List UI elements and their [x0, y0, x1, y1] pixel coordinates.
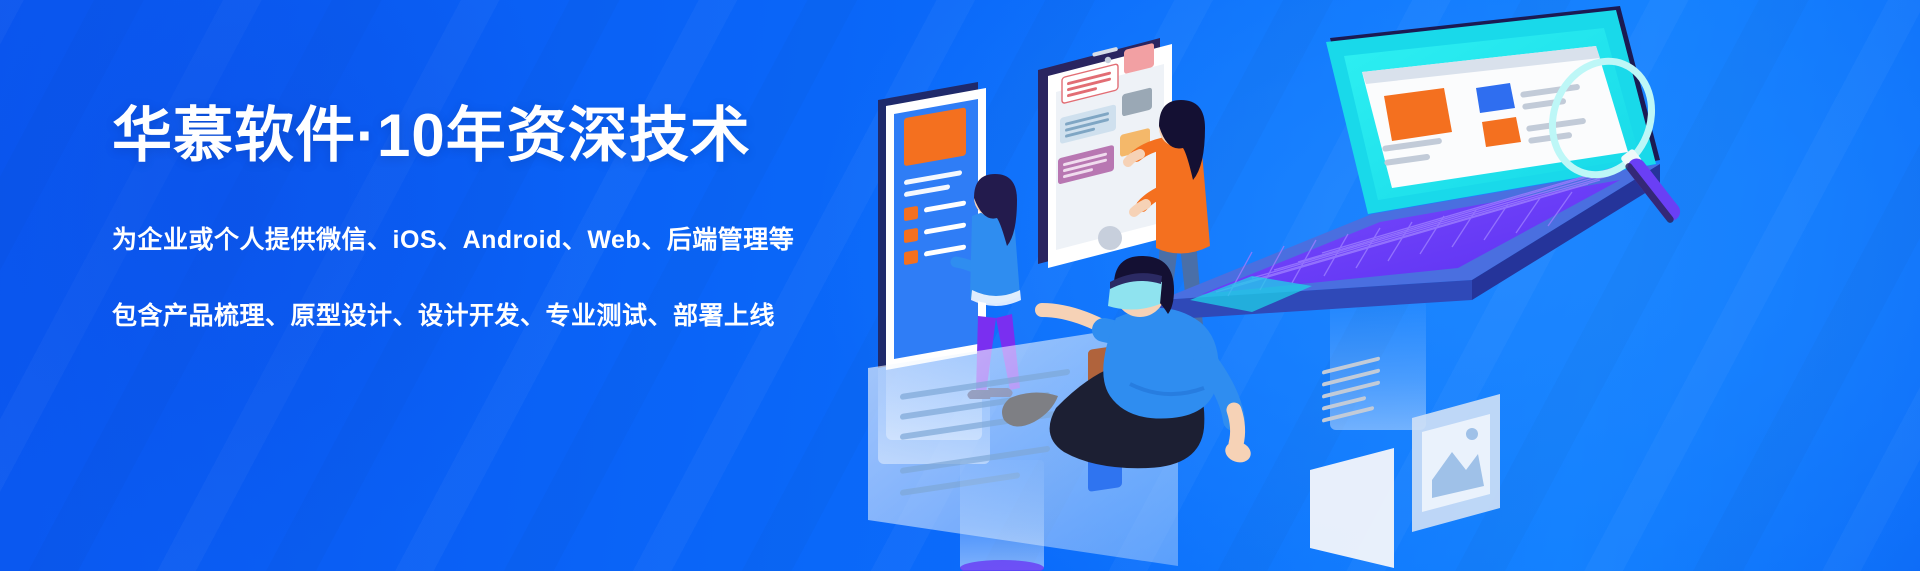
laptop-mockup-right	[1160, 6, 1660, 320]
floating-image-card	[1412, 394, 1500, 532]
hero-copy-block: 华慕软件·10年资深技术 为企业或个人提供微信、iOS、Android、Web、…	[112, 104, 932, 331]
hero-headline: 华慕软件·10年资深技术	[112, 104, 932, 169]
hero-illustration	[860, 0, 1920, 571]
pedestal-card	[960, 460, 1044, 570]
hero-banner: 华慕软件·10年资深技术 为企业或个人提供微信、iOS、Android、Web、…	[0, 0, 1920, 571]
hero-subtitle-line-1: 为企业或个人提供微信、iOS、Android、Web、后端管理等	[112, 225, 932, 255]
hero-subtitle-line-2: 包含产品梳理、原型设计、设计开发、专业测试、部署上线	[112, 301, 932, 331]
